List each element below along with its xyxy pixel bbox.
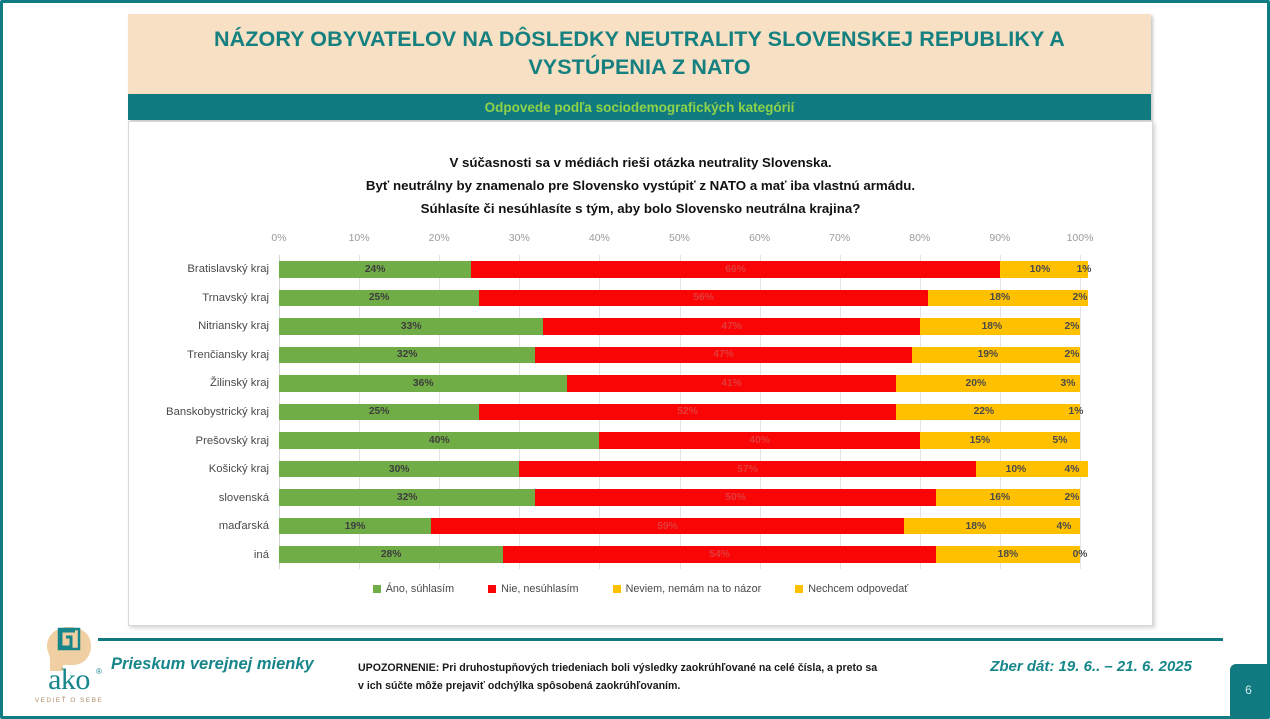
bar-segment: 19% xyxy=(912,347,1064,364)
bar-value-label: 41% xyxy=(721,378,742,389)
legend-label: Nechcem odpovedať xyxy=(808,583,908,595)
bar-segment: 52% xyxy=(479,404,896,421)
x-axis-tick: 60% xyxy=(749,232,770,244)
legend-item[interactable]: Neviem, nemám na to názor xyxy=(613,583,762,595)
chart-row: Košický kraj30%57%10%4% xyxy=(279,455,1080,484)
chart-row: iná28%54%18%0% xyxy=(279,540,1080,569)
bar-segment: 15% xyxy=(920,432,1040,449)
bar-value-label: 0% xyxy=(1073,549,1088,560)
bar-value-label: 5% xyxy=(1053,435,1068,446)
legend-label: Áno, súhlasím xyxy=(386,583,454,595)
bar-value-label: 20% xyxy=(966,378,987,389)
category-label: Košický kraj xyxy=(209,463,269,475)
category-label: slovenská xyxy=(219,492,269,504)
bar-value-label: 50% xyxy=(725,492,746,503)
x-axis-tick: 40% xyxy=(589,232,610,244)
category-label: Trenčiansky kraj xyxy=(187,349,269,361)
bar-value-label: 1% xyxy=(1069,406,1084,417)
bar-segment: 16% xyxy=(936,489,1064,506)
bar-value-label: 4% xyxy=(1065,464,1080,475)
x-axis-tick-labels: 0%10%20%30%40%50%60%70%80%90%100% xyxy=(279,232,1080,248)
bar-segment: 2% xyxy=(1064,318,1080,335)
category-label: maďarská xyxy=(219,520,269,532)
bar-segment: 30% xyxy=(279,461,519,478)
stacked-bar: 36%41%20%3% xyxy=(279,375,1080,392)
chart-row: Bratislavský kraj24%66%10%1% xyxy=(279,255,1080,284)
bar-value-label: 25% xyxy=(369,406,390,417)
bar-value-label: 59% xyxy=(657,521,678,532)
bar-segment: 47% xyxy=(543,318,919,335)
bar-segment: 33% xyxy=(279,318,543,335)
bar-segment: 2% xyxy=(1064,347,1080,364)
chart-row: Nitriansky kraj33%47%18%2% xyxy=(279,312,1080,341)
stacked-bar: 32%47%19%2% xyxy=(279,347,1080,364)
category-label: Nitriansky kraj xyxy=(198,320,269,332)
legend-label: Neviem, nemám na to názor xyxy=(626,583,762,595)
bar-value-label: 10% xyxy=(1030,264,1051,275)
bar-segment: 54% xyxy=(503,546,936,563)
x-axis-tick: 70% xyxy=(829,232,850,244)
bar-segment: 56% xyxy=(479,290,928,307)
bar-value-label: 52% xyxy=(677,406,698,417)
bar-value-label: 40% xyxy=(429,435,450,446)
bar-segment: 10% xyxy=(976,461,1056,478)
bar-segment: 5% xyxy=(1040,432,1080,449)
bar-segment: 41% xyxy=(567,375,895,392)
bar-segment: 18% xyxy=(936,546,1080,563)
bar-value-label: 40% xyxy=(749,435,770,446)
chart-plot-area: Bratislavský kraj24%66%10%1%Trnavský kra… xyxy=(279,255,1080,569)
ako-logo: ako ® VEDIEŤ O SEBE xyxy=(17,625,115,713)
bar-value-label: 22% xyxy=(974,406,995,417)
bar-segment: 59% xyxy=(431,518,904,535)
chart-row: maďarská19%59%18%4% xyxy=(279,512,1080,541)
bar-value-label: 47% xyxy=(721,321,742,332)
bar-segment: 40% xyxy=(279,432,599,449)
bar-value-label: 66% xyxy=(725,264,746,275)
x-axis-tick: 10% xyxy=(349,232,370,244)
bar-segment: 2% xyxy=(1064,489,1080,506)
stacked-bar: 19%59%18%4% xyxy=(279,518,1080,535)
bar-value-label: 19% xyxy=(345,521,366,532)
x-axis-tick: 20% xyxy=(429,232,450,244)
stacked-bar: 32%50%16%2% xyxy=(279,489,1080,506)
bar-segment: 20% xyxy=(896,375,1056,392)
stacked-bar: 30%57%10%4% xyxy=(279,461,1080,478)
bar-value-label: 1% xyxy=(1077,264,1092,275)
bar-value-label: 47% xyxy=(713,349,734,360)
x-axis-tick: 50% xyxy=(669,232,690,244)
title-band: NÁZORY OBYVATELOV NA DÔSLEDKY NEUTRALITY… xyxy=(128,14,1151,94)
legend-item[interactable]: Nechcem odpovedať xyxy=(795,583,908,595)
category-label: Prešovský kraj xyxy=(196,435,269,447)
footer-divider xyxy=(98,638,1223,641)
footer-date: Zber dát: 19. 6.. – 21. 6. 2025 xyxy=(990,658,1192,675)
logo-tagline: VEDIEŤ O SEBE xyxy=(23,697,115,704)
footer-note: UPOZORNENIE: Pri druhostupňových trieden… xyxy=(358,659,878,695)
bar-value-label: 28% xyxy=(381,549,402,560)
bar-segment: 50% xyxy=(535,489,936,506)
bar-segment: 40% xyxy=(599,432,919,449)
page-subtitle: Odpovede podľa sociodemografických kateg… xyxy=(485,100,795,115)
stacked-bar: 40%40%15%5% xyxy=(279,432,1080,449)
bar-value-label: 15% xyxy=(970,435,991,446)
bar-value-label: 32% xyxy=(397,492,418,503)
bar-segment: 36% xyxy=(279,375,567,392)
question-line: Byť neutrálny by znamenalo pre Slovensko… xyxy=(129,175,1152,198)
bar-segment: 25% xyxy=(279,404,479,421)
page-title: NÁZORY OBYVATELOV NA DÔSLEDKY NEUTRALITY… xyxy=(168,26,1111,81)
bar-segment: 10% xyxy=(1000,261,1080,278)
bar-value-label: 32% xyxy=(397,349,418,360)
bar-segment: 57% xyxy=(519,461,976,478)
x-axis-tick: 90% xyxy=(989,232,1010,244)
chart-legend: Áno, súhlasímNie, nesúhlasímNeviem, nemá… xyxy=(129,583,1152,595)
slide-root: NÁZORY OBYVATELOV NA DÔSLEDKY NEUTRALITY… xyxy=(0,0,1270,719)
category-label: Bratislavský kraj xyxy=(187,263,269,275)
bar-segment: 19% xyxy=(279,518,431,535)
footer-brand: Prieskum verejnej mienky xyxy=(111,655,314,674)
bar-value-label: 2% xyxy=(1073,292,1088,303)
bar-segment: 22% xyxy=(896,404,1072,421)
legend-swatch-icon xyxy=(795,585,803,593)
bar-segment: 32% xyxy=(279,347,535,364)
chart-question: V súčasnosti sa v médiách rieši otázka n… xyxy=(129,152,1152,221)
legend-item[interactable]: Áno, súhlasím xyxy=(373,583,454,595)
chart-row: Žilinský kraj36%41%20%3% xyxy=(279,369,1080,398)
bar-segment: 66% xyxy=(471,261,1000,278)
x-axis-tick: 80% xyxy=(909,232,930,244)
chart-card: V súčasnosti sa v médiách rieši otázka n… xyxy=(128,121,1153,626)
bar-segment: 28% xyxy=(279,546,503,563)
bar-value-label: 57% xyxy=(737,464,758,475)
bar-value-label: 36% xyxy=(413,378,434,389)
bar-value-label: 4% xyxy=(1057,521,1072,532)
legend-item[interactable]: Nie, nesúhlasím xyxy=(488,583,578,595)
bar-value-label: 54% xyxy=(709,549,730,560)
legend-label: Nie, nesúhlasím xyxy=(501,583,578,595)
bar-value-label: 10% xyxy=(1006,464,1027,475)
bar-value-label: 30% xyxy=(389,464,410,475)
bar-segment: 18% xyxy=(928,290,1072,307)
stacked-bar: 24%66%10%1% xyxy=(279,261,1080,278)
bar-value-label: 24% xyxy=(365,264,386,275)
chart-row: slovenská32%50%16%2% xyxy=(279,483,1080,512)
legend-swatch-icon xyxy=(373,585,381,593)
x-axis-tick: 100% xyxy=(1067,232,1094,244)
question-line: V súčasnosti sa v médiách rieši otázka n… xyxy=(129,152,1152,175)
question-line: Súhlasíte či nesúhlasíte s tým, aby bolo… xyxy=(129,198,1152,221)
chart-row: Trnavský kraj25%56%18%2% xyxy=(279,284,1080,313)
bar-value-label: 2% xyxy=(1065,349,1080,360)
subtitle-band: Odpovede podľa sociodemografických kateg… xyxy=(128,94,1151,120)
bar-value-label: 19% xyxy=(978,349,999,360)
page-number-badge: 6 xyxy=(1230,664,1267,716)
bar-value-label: 2% xyxy=(1065,321,1080,332)
bar-segment: 24% xyxy=(279,261,471,278)
chart-row: Banskobystrický kraj25%52%22%1% xyxy=(279,398,1080,427)
category-label: Banskobystrický kraj xyxy=(166,406,269,418)
bar-value-label: 33% xyxy=(401,321,422,332)
bar-value-label: 18% xyxy=(990,292,1011,303)
bar-segment: 4% xyxy=(1048,518,1080,535)
bar-value-label: 18% xyxy=(998,549,1019,560)
bar-value-label: 18% xyxy=(982,321,1003,332)
bar-segment: 18% xyxy=(920,318,1064,335)
bar-segment: 32% xyxy=(279,489,535,506)
bar-value-label: 2% xyxy=(1065,492,1080,503)
bar-segment: 1% xyxy=(1080,261,1088,278)
legend-swatch-icon xyxy=(488,585,496,593)
bar-segment: 18% xyxy=(904,518,1048,535)
bar-segment: 1% xyxy=(1072,404,1080,421)
stacked-bar: 25%52%22%1% xyxy=(279,404,1080,421)
bar-value-label: 56% xyxy=(693,292,714,303)
bar-segment: 47% xyxy=(535,347,911,364)
stacked-bar: 28%54%18%0% xyxy=(279,546,1080,563)
category-label: Trnavský kraj xyxy=(202,292,269,304)
chart-row: Trenčiansky kraj32%47%19%2% xyxy=(279,341,1080,370)
bar-segment: 4% xyxy=(1056,461,1088,478)
x-axis-tick: 0% xyxy=(271,232,286,244)
bar-segment: 3% xyxy=(1056,375,1080,392)
chart-row: Prešovský kraj40%40%15%5% xyxy=(279,426,1080,455)
stacked-bar: 33%47%18%2% xyxy=(279,318,1080,335)
bar-value-label: 16% xyxy=(990,492,1011,503)
stacked-bar: 25%56%18%2% xyxy=(279,290,1080,307)
bar-value-label: 18% xyxy=(966,521,987,532)
bar-segment: 25% xyxy=(279,290,479,307)
x-axis-tick: 30% xyxy=(509,232,530,244)
bar-segment: 2% xyxy=(1072,290,1088,307)
logo-registered-mark: ® xyxy=(96,667,102,676)
bar-value-label: 25% xyxy=(369,292,390,303)
legend-swatch-icon xyxy=(613,585,621,593)
category-label: Žilinský kraj xyxy=(210,377,269,389)
bar-value-label: 3% xyxy=(1061,378,1076,389)
category-label: iná xyxy=(254,549,269,561)
